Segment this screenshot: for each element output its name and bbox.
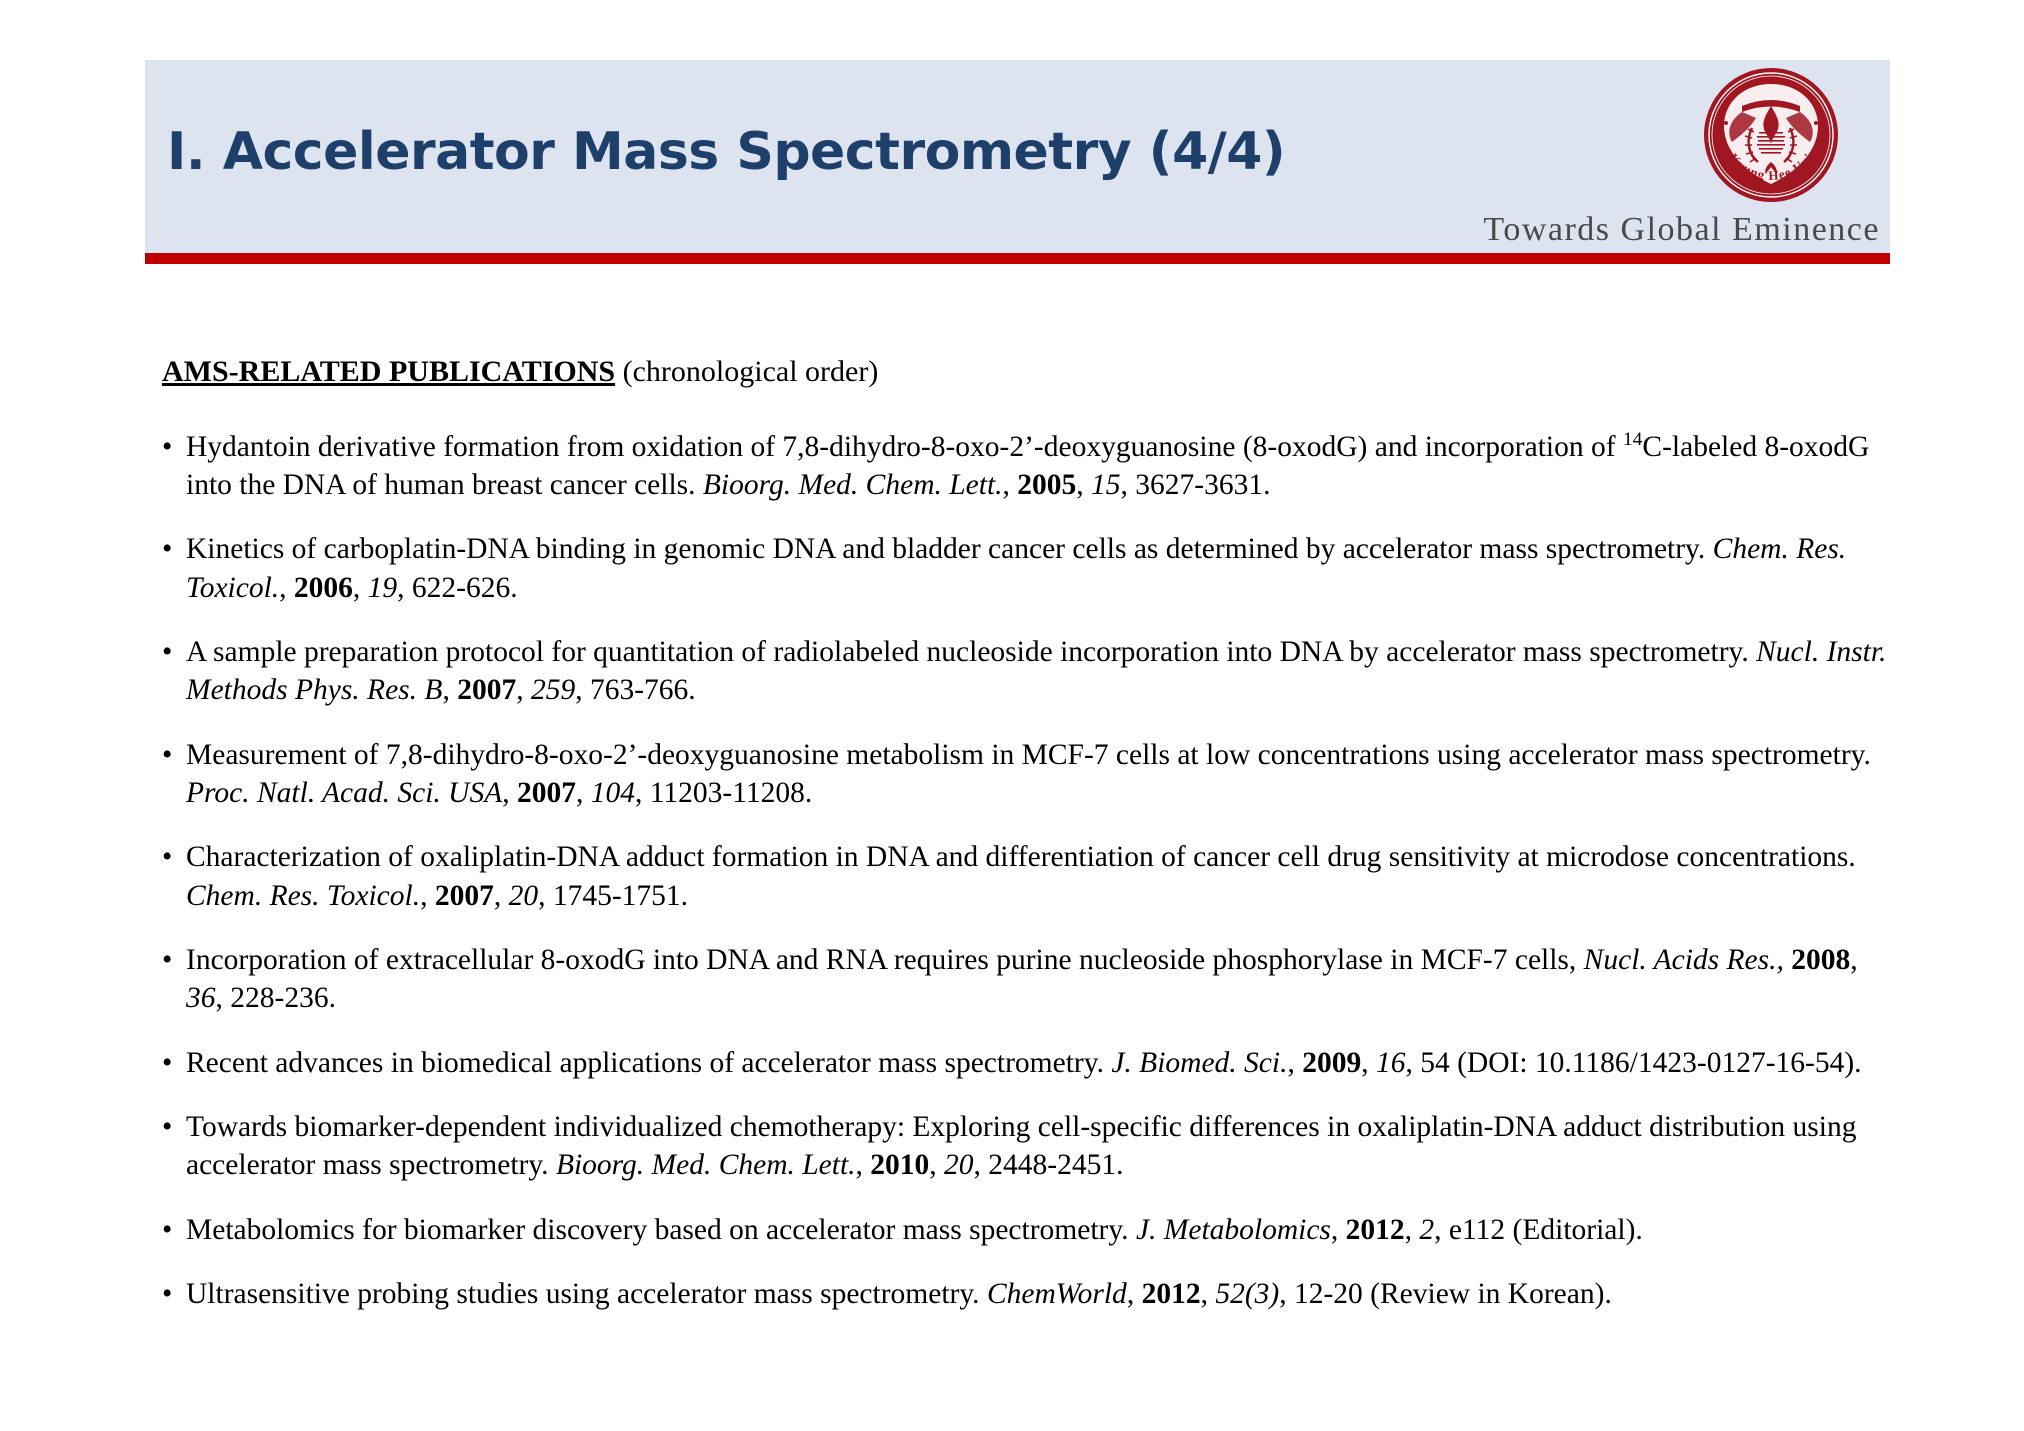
publication-volume: 20 [509, 880, 539, 912]
list-item: •Incorporation of extracellular 8-oxodG … [162, 941, 1892, 1018]
journal-separator: , [420, 880, 435, 912]
publication-year: 2008 [1791, 944, 1850, 976]
list-item: •Kinetics of carboplatin-DNA binding in … [162, 530, 1892, 607]
publication-title: Incorporation of extracellular 8-oxodG i… [186, 944, 1584, 976]
journal-name: Bioorg. Med. Chem. Lett. [556, 1149, 856, 1181]
publication-volume: 259 [531, 674, 575, 706]
section-heading-note: (chronological order) [615, 355, 878, 388]
list-item: •Recent advances in biomedical applicati… [162, 1044, 1892, 1082]
journal-name: Proc. Natl. Acad. Sci. USA [186, 777, 502, 809]
journal-separator: , [1003, 469, 1018, 501]
bullet-glyph: • [162, 633, 172, 671]
publication-title: Kinetics of carboplatin-DNA binding in g… [186, 533, 1713, 565]
list-item: •A sample preparation protocol for quant… [162, 633, 1892, 710]
slide-header-band: I. Accelerator Mass Spectrometry (4/4) T… [145, 60, 1890, 253]
publication-year: 2012 [1346, 1214, 1405, 1246]
bullet-glyph: • [162, 1275, 172, 1313]
publication-year: 2006 [294, 572, 353, 604]
publication-pages: e112 (Editorial). [1449, 1214, 1643, 1246]
publication-pages: 622-626. [412, 572, 518, 604]
section-heading: AMS-RELATED PUBLICATIONS (chronological … [162, 355, 1892, 390]
header-red-rule [145, 253, 1890, 264]
publication-year: 2007 [517, 777, 576, 809]
publication-pages: , 12-20 (Review in Korean). [1279, 1278, 1612, 1310]
bullet-glyph: • [162, 1211, 172, 1249]
publication-title: Metabolomics for biomarker discovery bas… [186, 1214, 1136, 1246]
journal-name: ChemWorld [987, 1278, 1127, 1310]
journal-separator: , [856, 1149, 871, 1181]
publication-volume: 52(3) [1215, 1278, 1279, 1310]
publication-pages: 11203-11208. [650, 777, 813, 809]
journal-separator: , [1331, 1214, 1346, 1246]
publication-title: Recent advances in biomedical applicatio… [186, 1047, 1111, 1079]
slide-content: AMS-RELATED PUBLICATIONS (chronological … [162, 355, 1892, 1339]
publications-list: •Hydantoin derivative formation from oxi… [162, 428, 1892, 1314]
list-item: •Ultrasensitive probing studies using ac… [162, 1275, 1892, 1313]
publication-volume: 16 [1376, 1047, 1406, 1079]
publication-pages: 763-766. [590, 674, 696, 706]
publication-title: A sample preparation protocol for quanti… [186, 636, 1756, 668]
publication-year: 2009 [1302, 1047, 1361, 1079]
publication-pages: 1745-1751. [553, 880, 688, 912]
list-item: •Characterization of oxaliplatin-DNA add… [162, 838, 1892, 915]
publication-year: 2007 [435, 880, 494, 912]
publication-volume: 104 [591, 777, 635, 809]
journal-name: Chem. Res. Toxicol. [186, 880, 420, 912]
section-heading-main: AMS-RELATED PUBLICATIONS [162, 355, 615, 388]
bullet-glyph: • [162, 428, 172, 466]
publication-year: 2007 [457, 674, 516, 706]
list-item: •Towards biomarker-dependent individuali… [162, 1108, 1892, 1185]
bullet-glyph: • [162, 1108, 172, 1146]
publication-pages: 54 (DOI: 10.1186/1423-0127-16-54). [1420, 1047, 1861, 1079]
bullet-glyph: • [162, 941, 172, 979]
publication-pages: 228-236. [230, 982, 336, 1014]
publication-year: 2005 [1017, 469, 1076, 501]
publication-title: Measurement of 7,8-dihydro-8-oxo-2’-deox… [186, 739, 1871, 771]
mass-number-superscript: 14 [1623, 429, 1642, 450]
bullet-glyph: • [162, 530, 172, 568]
bullet-glyph: • [162, 1044, 172, 1082]
publication-pages: 2448-2451. [988, 1149, 1123, 1181]
university-tagline: Towards Global Eminence [1483, 211, 1880, 249]
journal-name: Bioorg. Med. Chem. Lett. [703, 469, 1003, 501]
kyung-hee-university-seal-icon: Kyung Hee University [1702, 66, 1840, 204]
publication-volume: 19 [368, 572, 398, 604]
journal-separator: , [1287, 1047, 1302, 1079]
journal-name: J. Biomed. Sci. [1111, 1047, 1287, 1079]
journal-name: J. Metabolomics [1136, 1214, 1331, 1246]
publication-volume: 36 [186, 982, 216, 1014]
publication-pages: 3627-3631. [1135, 469, 1270, 501]
publication-volume: 2 [1419, 1214, 1434, 1246]
page-title: I. Accelerator Mass Spectrometry (4/4) [167, 122, 1285, 182]
publication-title: Hydantoin derivative formation from oxid… [186, 431, 1623, 463]
publication-volume: 20 [944, 1149, 974, 1181]
publication-year: 2010 [870, 1149, 929, 1181]
journal-separator: , [442, 674, 457, 706]
list-item: •Measurement of 7,8-dihydro-8-oxo-2’-deo… [162, 736, 1892, 813]
journal-separator: , [279, 572, 294, 604]
publication-year: 2012 [1142, 1278, 1201, 1310]
journal-name: Nucl. Acids Res., [1584, 944, 1784, 976]
list-item: •Hydantoin derivative formation from oxi… [162, 428, 1892, 505]
list-item: •Metabolomics for biomarker discovery ba… [162, 1211, 1892, 1249]
publication-title: Ultrasensitive probing studies using acc… [186, 1278, 987, 1310]
publication-volume: 15 [1091, 469, 1121, 501]
journal-separator: , [1127, 1278, 1142, 1310]
bullet-glyph: • [162, 838, 172, 876]
publication-title: Characterization of oxaliplatin-DNA addu… [186, 841, 1856, 873]
bullet-glyph: • [162, 736, 172, 774]
journal-separator: , [502, 777, 517, 809]
